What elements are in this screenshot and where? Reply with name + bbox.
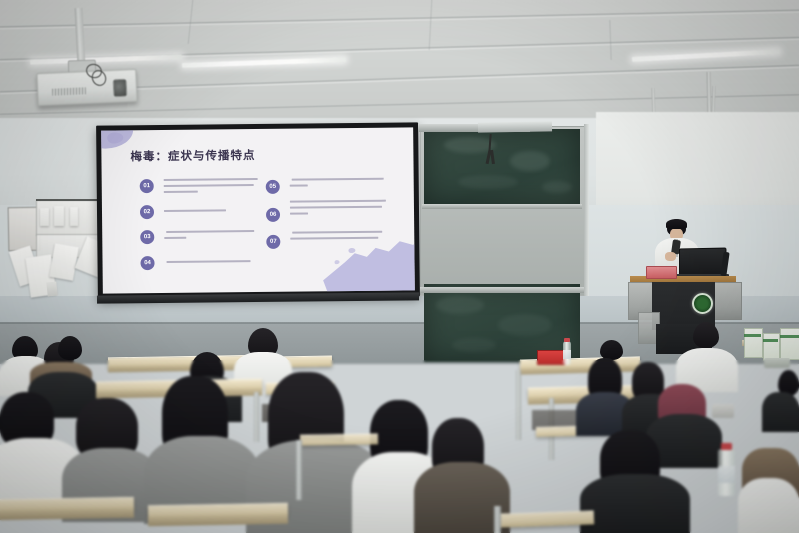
slide-body-line	[292, 178, 384, 181]
presenter-hair	[666, 219, 687, 229]
slide-badge: 05	[266, 180, 280, 194]
desk-leg	[296, 440, 302, 500]
notice-paper	[40, 208, 49, 226]
slide-body-line	[292, 231, 382, 234]
institution-emblem	[692, 293, 713, 314]
blackboard-divider-rail	[422, 204, 582, 209]
projector-vent	[52, 87, 86, 95]
product-box-stripe	[780, 335, 799, 338]
desk-leg	[516, 370, 521, 440]
slide-body-line	[164, 191, 198, 193]
slide-badge: 02	[140, 205, 154, 219]
slide-body-line	[290, 200, 386, 203]
water-bottle-label	[718, 466, 735, 483]
slide-decor-blob	[335, 260, 340, 264]
audience-shoulders-foreground	[580, 474, 690, 533]
audience-head	[58, 336, 82, 360]
presenter-hand	[665, 252, 676, 261]
audience-head	[693, 322, 719, 348]
slide-body-line	[164, 237, 186, 239]
product-box-stripe	[744, 334, 761, 337]
water-bottle-cap	[721, 443, 732, 450]
audience-shoulders-foreground	[738, 478, 799, 533]
lecture-hall-photo: 梅毒：症状与传播特点 01 02 03 04 05 06 07	[0, 0, 799, 533]
slide-body-line	[290, 206, 382, 209]
slide-body-line	[290, 212, 308, 214]
slide-badge: 01	[140, 179, 154, 193]
slide-body-line	[290, 237, 378, 240]
slide-body-line	[290, 184, 308, 186]
product-box	[763, 333, 780, 361]
slide-badge: 06	[266, 208, 280, 222]
podium-right-wing	[714, 282, 742, 320]
slide-body-line	[164, 209, 226, 212]
slide-body-line	[166, 230, 254, 233]
podium-nameplate	[646, 266, 677, 279]
slide-decor-blob	[318, 233, 415, 293]
product-box	[780, 328, 799, 360]
notice-paper	[54, 206, 64, 226]
slide-badge: 07	[266, 235, 280, 249]
blackboard-slider-top	[478, 121, 552, 132]
projection-screen: 梅毒：症状与传播特点 01 02 03 04 05 06 07	[96, 122, 420, 299]
water-bottle-label	[563, 350, 571, 359]
slide-decor-blob	[348, 248, 355, 253]
hanging-paper	[46, 282, 57, 297]
product-box-stripe	[763, 339, 778, 342]
slide-title: 梅毒：症状与传播特点	[130, 147, 255, 164]
desk-leg	[254, 392, 259, 442]
slide-body-line	[167, 260, 251, 263]
notice-paper	[70, 207, 78, 226]
slide-badge: 03	[140, 230, 154, 244]
table-item	[764, 358, 790, 368]
slide-body-line	[164, 178, 258, 181]
blackboard-upper-panel	[424, 129, 580, 204]
audience-shoulders	[762, 392, 799, 432]
presenter-laptop-screen	[679, 248, 726, 278]
desk-row-mid-front	[300, 433, 378, 445]
desk-leg	[494, 506, 501, 533]
slide-badge: 04	[140, 256, 154, 270]
product-box	[744, 328, 763, 358]
chalk-tray	[420, 287, 584, 293]
slide-body-line	[164, 184, 254, 187]
audience-head	[600, 340, 623, 360]
projector-lens	[113, 79, 128, 98]
desk-item	[712, 404, 734, 418]
water-bottle-cap	[564, 338, 570, 342]
blackboard-right-edge	[584, 124, 589, 296]
